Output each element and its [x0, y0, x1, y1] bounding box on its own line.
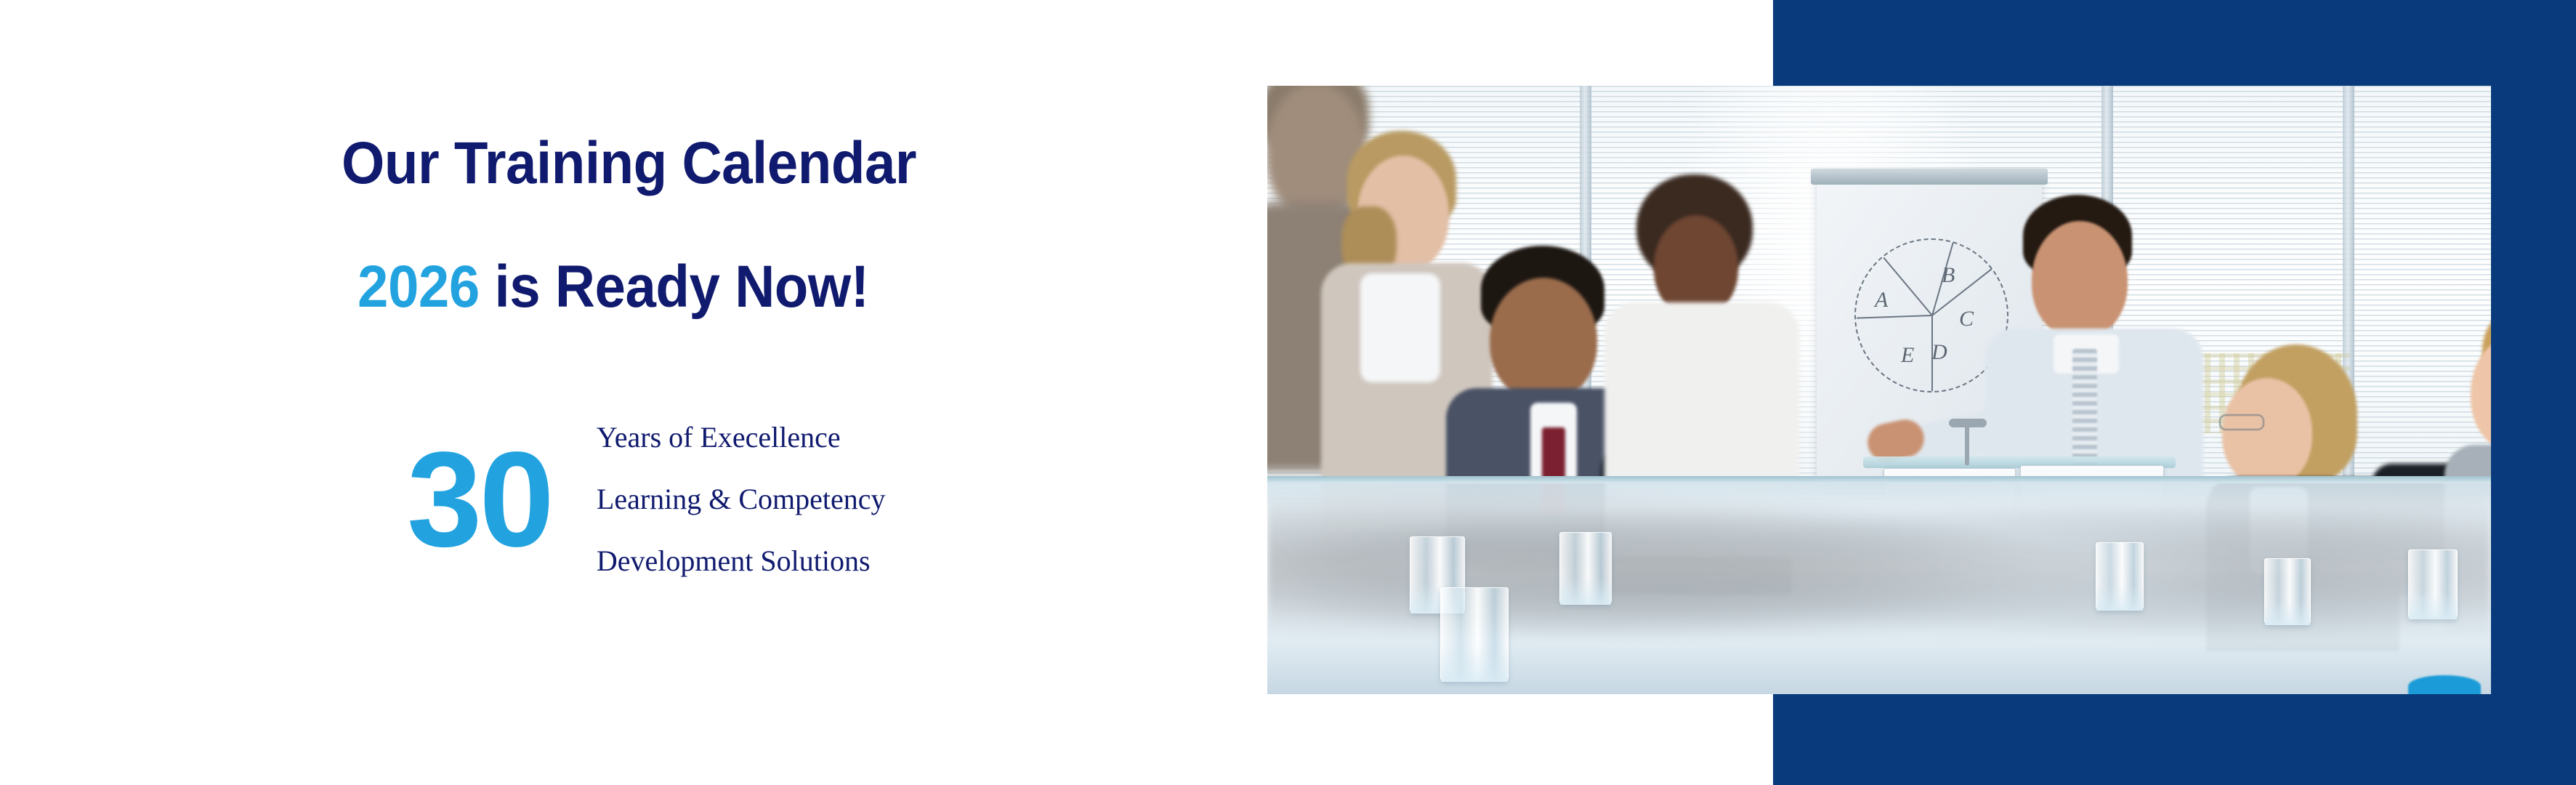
pie-label-b: B	[1942, 263, 1955, 288]
tagline: Years of Execellence Learning & Competen…	[597, 407, 886, 592]
tagline-line-1: Years of Execellence	[597, 407, 886, 469]
flipchart-clamp	[1811, 169, 2048, 185]
tagline-line-3: Development Solutions	[597, 531, 886, 592]
pie-spoke	[1857, 315, 1932, 319]
water-glass	[1440, 587, 1509, 682]
pie-label-e: E	[1901, 343, 1914, 368]
pie-spoke	[1883, 257, 1932, 316]
page-title: Our Training Calendar	[342, 129, 916, 198]
water-glass	[2408, 549, 2458, 619]
training-calendar-banner: A B C D E	[0, 0, 2576, 785]
water-glass	[2096, 542, 2144, 611]
pie-label-a: A	[1875, 288, 1888, 313]
microphone-head	[1949, 419, 1987, 427]
pie-label-c: C	[1959, 307, 1974, 331]
conference-room-photo: A B C D E	[1267, 86, 2491, 694]
photo-scene: A B C D E	[1267, 86, 2491, 694]
tagline-line-2: Learning & Competency	[597, 469, 886, 531]
subtitle: 2026 is Ready Now!	[358, 253, 869, 321]
water-glass	[2264, 558, 2311, 625]
pie-label-d: D	[1931, 340, 1947, 365]
anniversary-block: 30 Years of Execellence Learning & Compe…	[407, 407, 886, 592]
microphone-stem	[1965, 426, 1969, 465]
teal-accent-chip	[2408, 675, 2481, 694]
anniversary-number: 30	[407, 438, 552, 562]
calendar-year: 2026	[358, 254, 480, 320]
water-glass	[1559, 532, 1612, 605]
subtitle-rest: is Ready Now!	[480, 254, 869, 320]
